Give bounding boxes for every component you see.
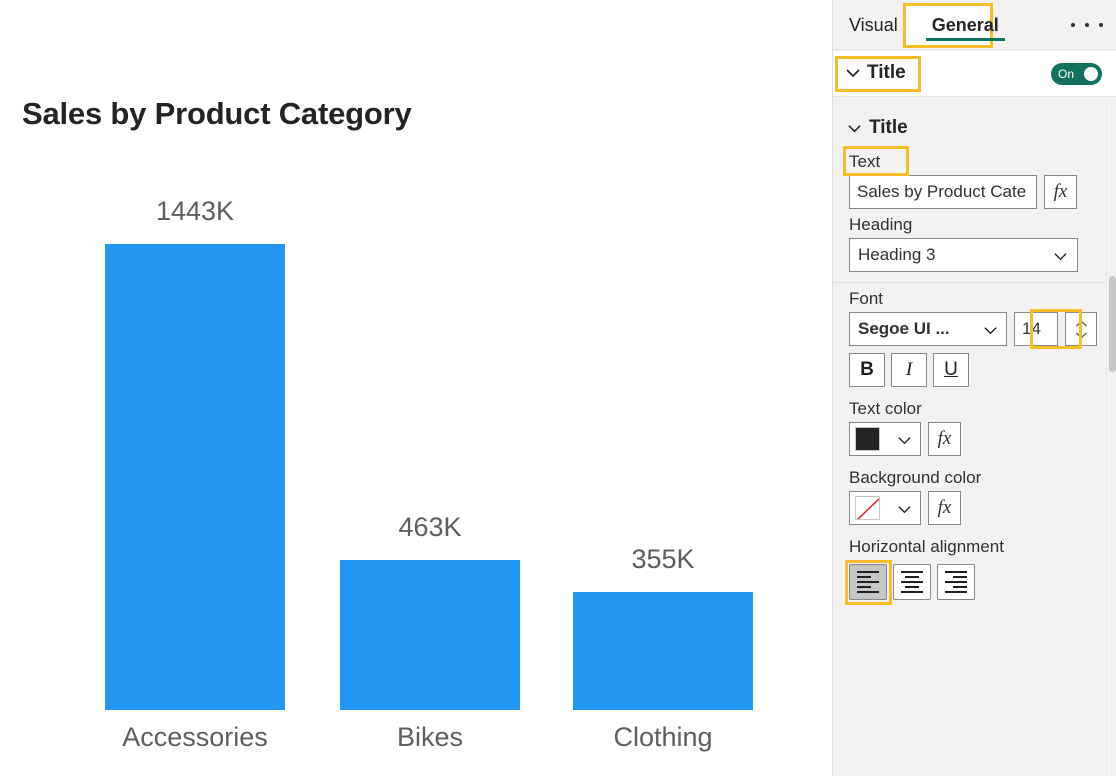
chevron-up-icon[interactable]	[1075, 320, 1088, 328]
align-left-button[interactable]	[849, 564, 887, 600]
text-color-row: fx	[849, 422, 1116, 456]
app-root: Sales by Product Category 1443K Accessor…	[0, 0, 1116, 776]
chevron-down-icon[interactable]	[1075, 331, 1088, 339]
font-family-dropdown[interactable]: Segoe UI ...	[849, 312, 1007, 346]
text-color-label: Text color	[849, 399, 922, 419]
heading-row: Heading 3	[849, 238, 1116, 272]
chart-visual[interactable]: Sales by Product Category 1443K Accessor…	[0, 0, 832, 776]
text-color-picker[interactable]	[849, 422, 921, 456]
font-row: Segoe UI ... 14	[849, 312, 1116, 346]
text-fx-button[interactable]: fx	[1044, 175, 1077, 209]
tab-general[interactable]: General	[926, 3, 1005, 47]
bold-button[interactable]: B	[849, 353, 885, 387]
chevron-down-icon	[983, 323, 998, 338]
horizontal-alignment-label: Horizontal alignment	[849, 537, 1004, 557]
title-text-input[interactable]: Sales by Product Cate	[849, 175, 1037, 209]
tab-general-label: General	[932, 15, 999, 35]
format-pane-body: Title Text Sales by Product Cate fx Head…	[833, 98, 1116, 776]
background-color-picker[interactable]	[849, 491, 921, 525]
tab-active-underline	[926, 38, 1005, 41]
bar-label-clothing: 355K	[573, 544, 753, 575]
font-field-label: Font	[849, 289, 883, 309]
background-color-row: fx	[849, 491, 1116, 525]
toggle-state-label: On	[1058, 67, 1074, 81]
format-pane-scrollbar[interactable]	[1106, 98, 1116, 776]
more-options-icon[interactable]	[1071, 13, 1103, 37]
font-size-stepper[interactable]	[1065, 312, 1097, 346]
section-divider	[833, 282, 1116, 283]
text-field-row: Sales by Product Cate fx	[849, 175, 1116, 209]
align-right-button[interactable]	[937, 564, 975, 600]
no-fill-icon	[856, 497, 880, 520]
text-field-label: Text	[849, 152, 880, 172]
chevron-down-icon	[1053, 249, 1068, 264]
bar-clothing[interactable]	[573, 592, 753, 710]
font-style-buttons: B I U	[849, 353, 1116, 387]
bar-label-accessories: 1443K	[105, 196, 285, 227]
align-center-button[interactable]	[893, 564, 931, 600]
chart-plot-area: 1443K Accessories 463K Bikes 355K Clothi…	[0, 0, 832, 776]
heading-dropdown-value: Heading 3	[858, 245, 936, 264]
bar-label-bikes: 463K	[340, 512, 520, 543]
font-size-input[interactable]: 14	[1014, 312, 1058, 346]
title-card-header[interactable]: Title On	[833, 51, 1116, 97]
bar-accessories[interactable]	[105, 244, 285, 710]
font-family-value: Segoe UI ...	[858, 319, 950, 338]
title-card-label: Title	[867, 62, 906, 84]
toggle-knob	[1084, 67, 1098, 81]
italic-button[interactable]: I	[891, 353, 927, 387]
dot	[1085, 23, 1089, 27]
tab-visual[interactable]: Visual	[843, 3, 904, 47]
chevron-down-icon[interactable]	[845, 65, 861, 81]
background-color-label: Background color	[849, 468, 981, 488]
heading-field-label: Heading	[849, 215, 912, 235]
background-color-swatch-transparent	[855, 496, 880, 520]
category-label-accessories: Accessories	[75, 722, 315, 753]
bar-bikes[interactable]	[340, 560, 520, 710]
dot	[1071, 23, 1075, 27]
format-pane: Visual General Title On	[832, 0, 1116, 776]
text-label-wrap: Text	[833, 146, 1116, 175]
category-label-bikes: Bikes	[310, 722, 550, 753]
title-toggle-switch[interactable]: On	[1051, 63, 1102, 85]
text-color-fx-button[interactable]: fx	[928, 422, 961, 456]
background-color-fx-button[interactable]: fx	[928, 491, 961, 525]
format-pane-tabstrip: Visual General	[833, 0, 1116, 50]
scrollbar-thumb[interactable]	[1109, 276, 1116, 372]
underline-button[interactable]: U	[933, 353, 969, 387]
heading-dropdown[interactable]: Heading 3	[849, 238, 1078, 272]
text-color-swatch	[855, 427, 880, 451]
chevron-down-icon[interactable]	[847, 121, 862, 136]
chevron-down-icon	[897, 433, 912, 448]
horizontal-alignment-group	[849, 564, 1116, 600]
title-subsection-header[interactable]: Title	[833, 112, 1116, 146]
title-subsection-label: Title	[869, 117, 908, 139]
dot	[1099, 23, 1103, 27]
category-label-clothing: Clothing	[543, 722, 783, 753]
chevron-down-icon	[897, 502, 912, 517]
